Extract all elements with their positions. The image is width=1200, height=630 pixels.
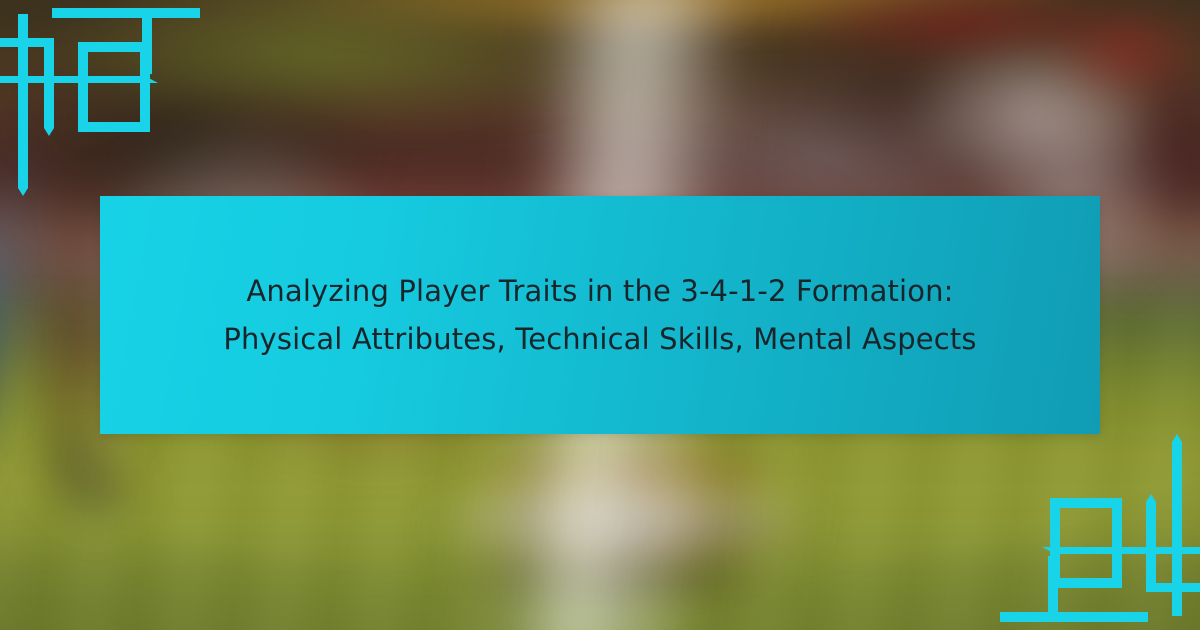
banner-title-line-1: Analyzing Player Traits in the 3-4-1-2 F… bbox=[246, 267, 953, 315]
title-banner: Analyzing Player Traits in the 3-4-1-2 F… bbox=[100, 196, 1100, 434]
banner-canvas: Analyzing Player Traits in the 3-4-1-2 F… bbox=[0, 0, 1200, 630]
banner-title-line-2: Physical Attributes, Technical Skills, M… bbox=[223, 315, 976, 363]
